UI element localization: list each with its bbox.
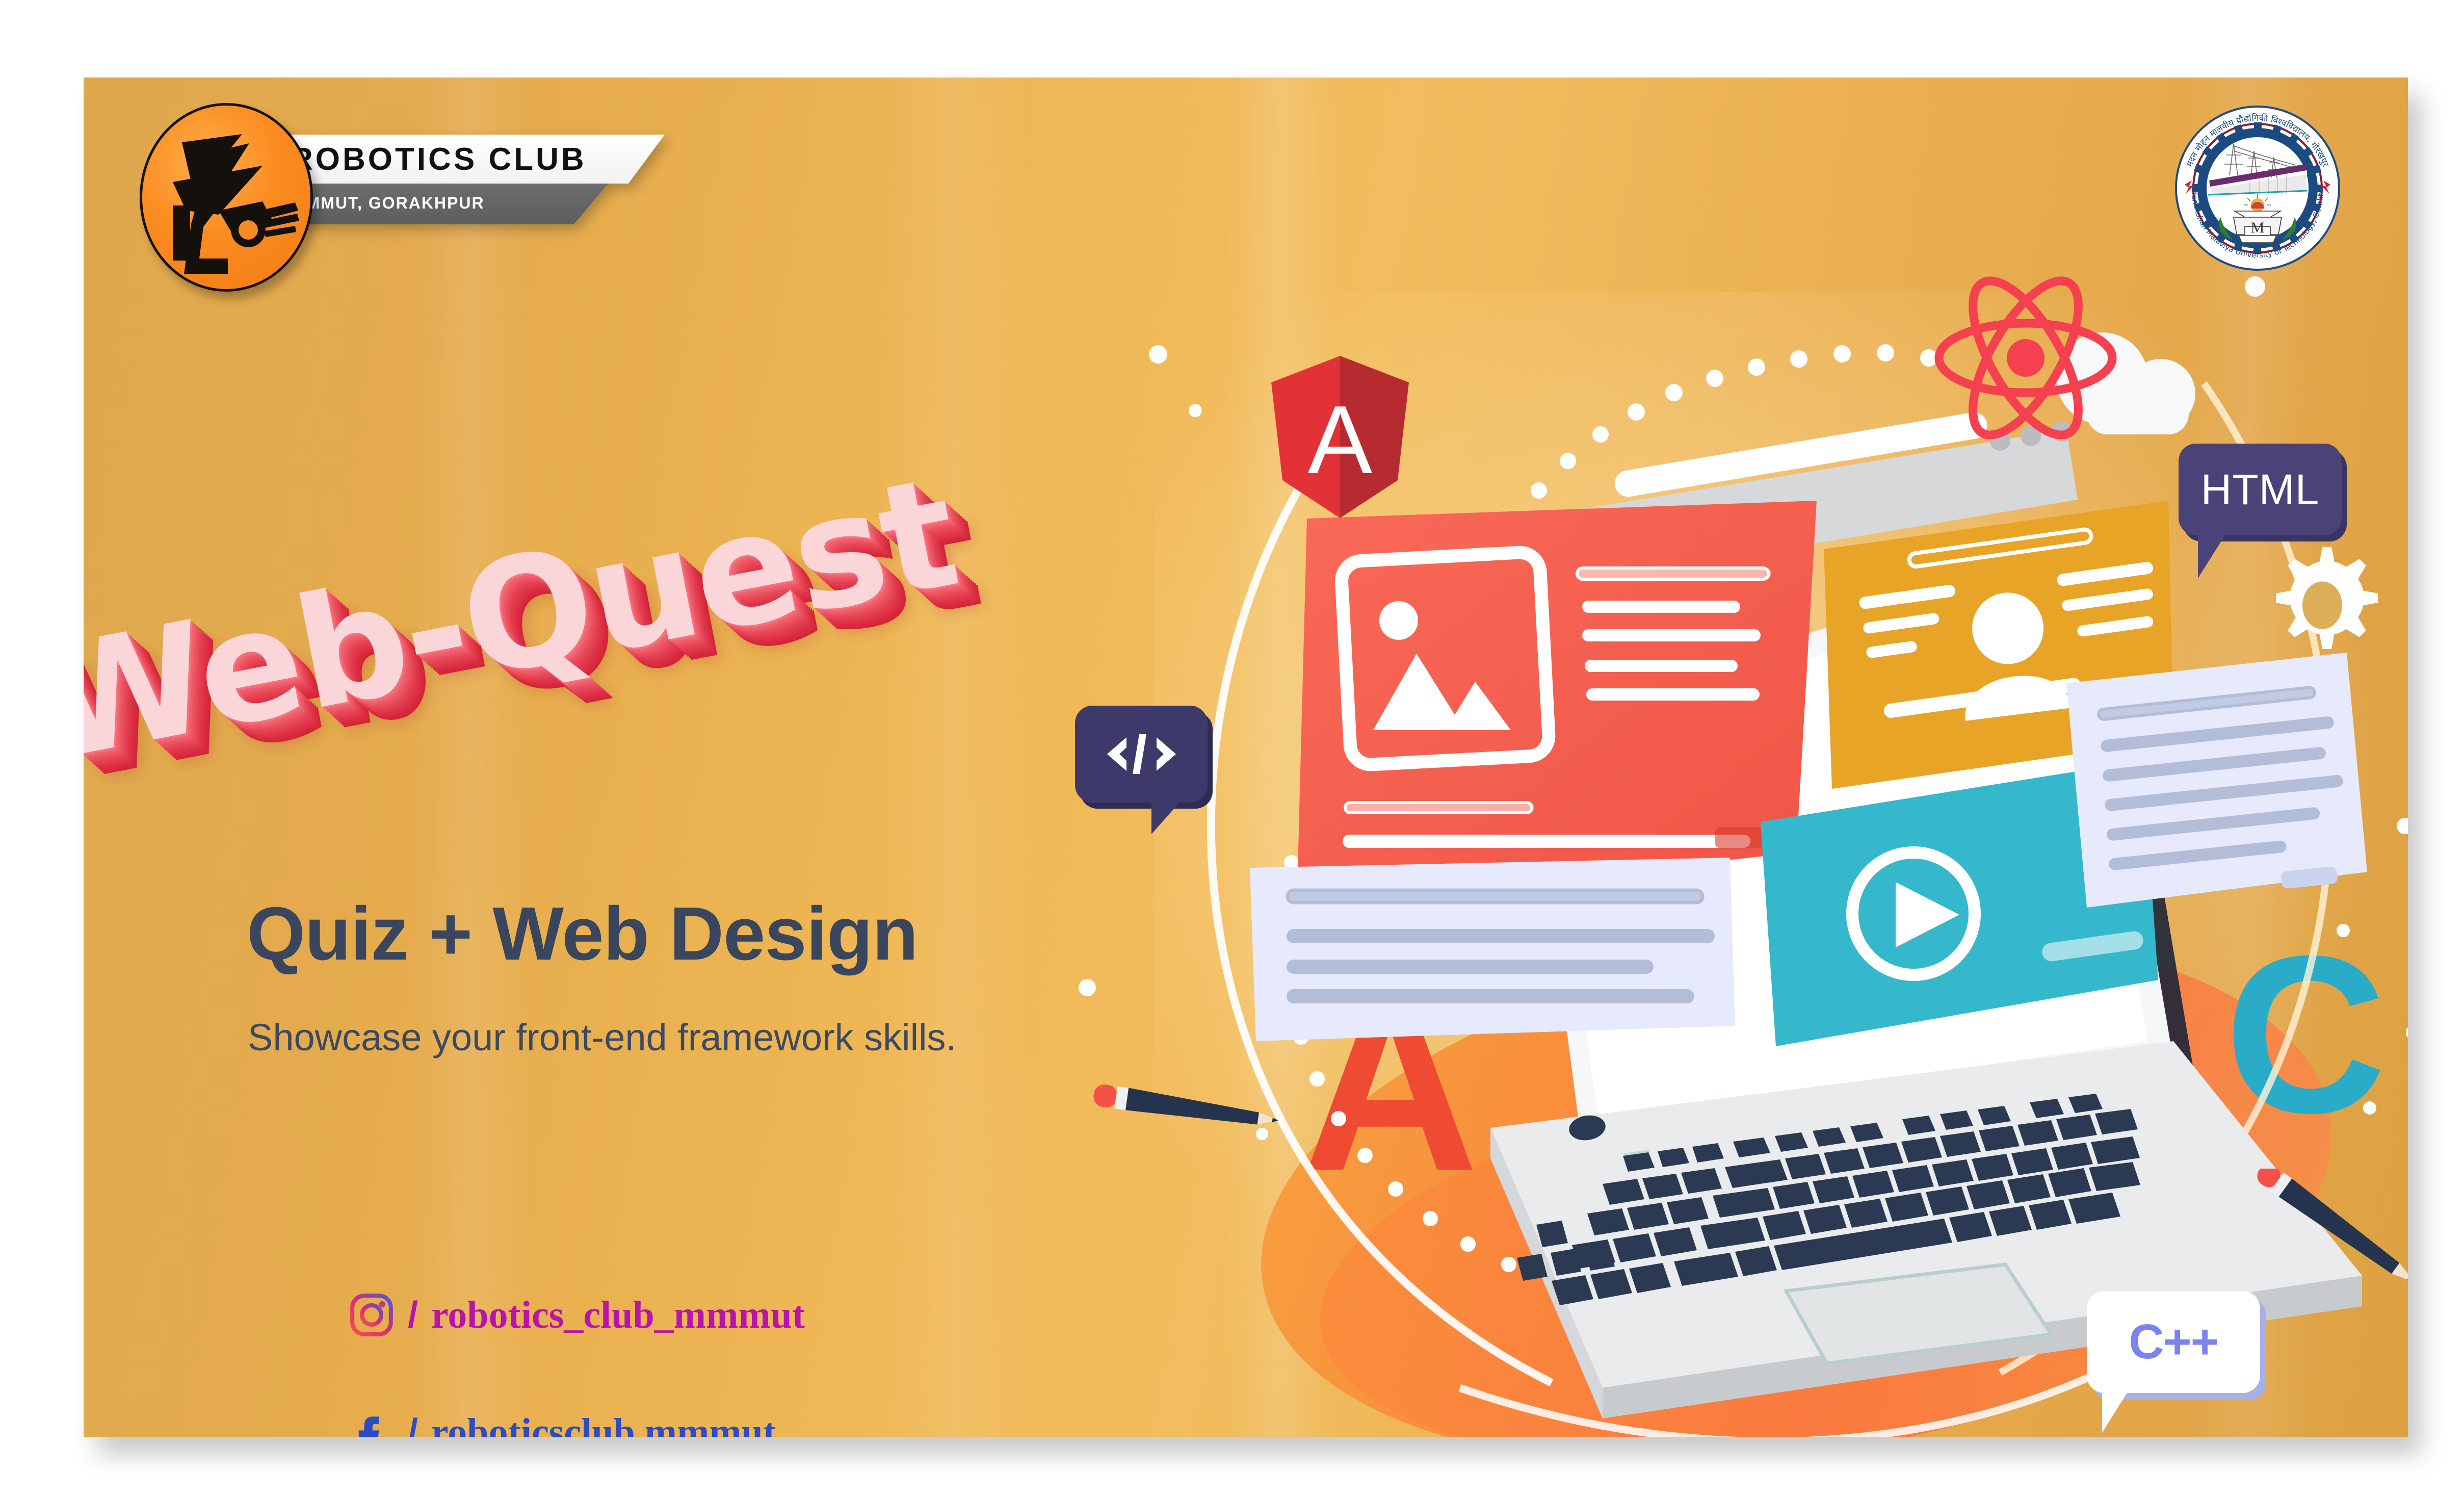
page-title: Web-Quest bbox=[84, 387, 1259, 795]
pencil-icon bbox=[2235, 1169, 2408, 1291]
social-separator: / bbox=[408, 1411, 418, 1437]
facebook-handle[interactable]: roboticsclub.mmmut bbox=[431, 1410, 776, 1437]
logo-emblem bbox=[140, 103, 313, 292]
html-bubble[interactable]: HTML bbox=[2179, 444, 2352, 571]
react-atom-icon bbox=[1929, 261, 2122, 455]
instagram-handle[interactable]: robotics_club_mmmut bbox=[431, 1293, 805, 1337]
title-block: Web-Quest bbox=[84, 387, 1285, 931]
angular-shield-icon: A bbox=[1266, 353, 1414, 521]
social-link-facebook[interactable]: / roboticsclub.mmmut bbox=[349, 1409, 776, 1437]
bubble-tail bbox=[2102, 1389, 2130, 1433]
floating-dot bbox=[2406, 1025, 2408, 1040]
svg-text:M: M bbox=[2251, 219, 2265, 236]
cpp-bubble[interactable]: C++ bbox=[2087, 1291, 2270, 1429]
lavender-text-card-left bbox=[1246, 858, 1755, 1082]
event-banner: A C bbox=[84, 78, 2408, 1437]
headline: Quiz + Web Design bbox=[247, 891, 918, 977]
floating-dot bbox=[1079, 979, 1096, 996]
html-bubble-box: HTML bbox=[2179, 444, 2342, 535]
mmmut-university-seal: M मदन मोहन मालवीय प्रौद्योगिकी विश्वविद्… bbox=[2173, 104, 2342, 272]
floating-dot bbox=[2397, 818, 2408, 834]
lavender-text-card-right bbox=[2061, 653, 2388, 938]
floating-dot bbox=[1149, 345, 1167, 364]
bubble-tail bbox=[2198, 531, 2227, 578]
logo-ribbon: ROBOTICS CLUB MMMUT, GORAKHPUR bbox=[262, 135, 665, 231]
social-separator: / bbox=[408, 1294, 418, 1336]
cpp-bubble-label: C++ bbox=[2129, 1314, 2218, 1370]
tagline: Showcase your front-end framework skills… bbox=[248, 1016, 956, 1059]
robotics-club-logo[interactable]: ROBOTICS CLUB MMMUT, GORAKHPUR bbox=[140, 103, 711, 246]
facebook-icon bbox=[349, 1409, 395, 1437]
club-name: ROBOTICS CLUB bbox=[290, 141, 587, 177]
angular-shield-letter: A bbox=[1308, 386, 1373, 494]
club-location: MMMUT, GORAKHPUR bbox=[292, 194, 485, 213]
pencil-icon bbox=[1078, 1077, 1297, 1138]
floating-dot bbox=[2245, 276, 2265, 297]
html-bubble-label: HTML bbox=[2201, 465, 2320, 514]
social-link-instagram[interactable]: / robotics_club_mmmut bbox=[349, 1292, 805, 1338]
code-bracket-icon bbox=[1097, 731, 1186, 777]
bubble-tail bbox=[1151, 798, 1183, 834]
instagram-icon bbox=[349, 1292, 395, 1338]
screenshot-stage: A C bbox=[0, 0, 2464, 1498]
cpp-bubble-box: C++ bbox=[2087, 1291, 2260, 1393]
